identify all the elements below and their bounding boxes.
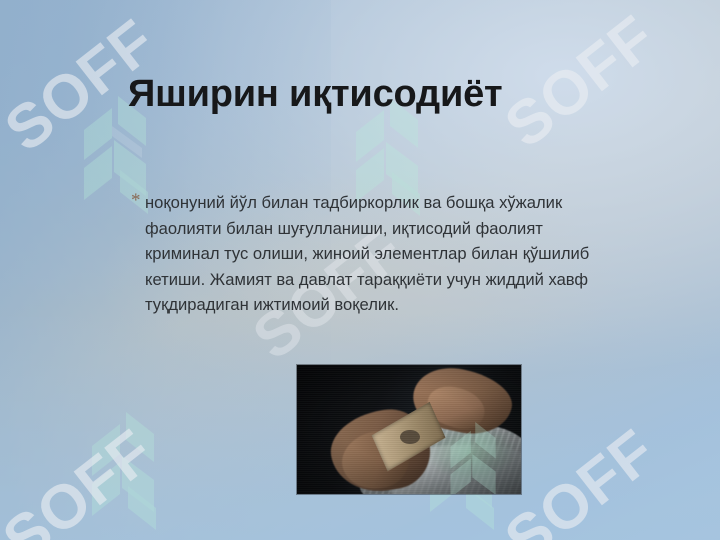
slide-image xyxy=(297,365,521,494)
soff-logo-watermark-on-photo xyxy=(441,422,521,494)
photo-artwork xyxy=(297,365,521,494)
bullet-paragraph: ноқонуний йўл билан тадбиркорлик ва бошқ… xyxy=(145,190,609,318)
bullet-text: ноқонуний йўл билан тадбиркорлик ва бошқ… xyxy=(145,190,609,318)
slide-body: * ноқонуний йўл билан тадбиркорлик ва бо… xyxy=(131,190,609,318)
bullet-item: * ноқонуний йўл билан тадбиркорлик ва бо… xyxy=(131,190,609,318)
slide-title: Яширин иқтисодиёт xyxy=(128,73,648,117)
presentation-slide: SOFF SOFF SOFF SOFF SOFF Яширин иқтисоди… xyxy=(0,0,720,540)
asterisk-bullet-icon: * xyxy=(131,191,145,210)
